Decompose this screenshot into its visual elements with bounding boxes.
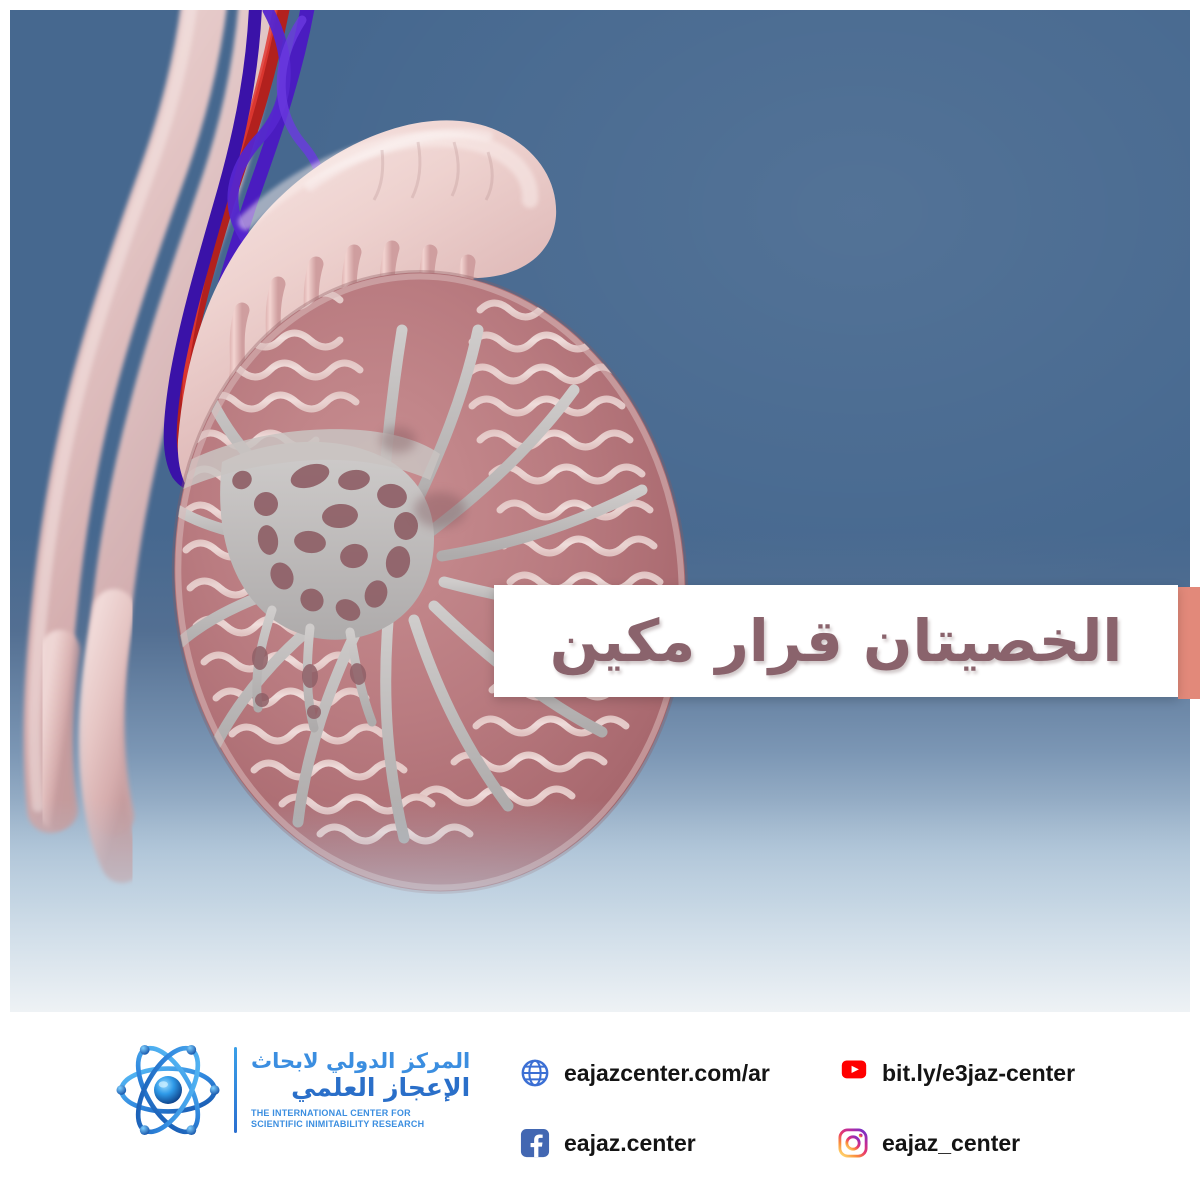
instagram-icon <box>838 1128 868 1158</box>
title-accent-bar <box>1178 587 1200 699</box>
brand-arabic-line-2: الإعجاز العلمي <box>251 1074 470 1102</box>
youtube-label: bit.ly/e3jaz-center <box>882 1060 1075 1087</box>
brand-logo[interactable]: المركز الدولي لابحاث الإعجاز العلمي THE … <box>112 1034 470 1146</box>
website-label: eajazcenter.com/ar <box>564 1060 770 1087</box>
brand-divider <box>234 1047 237 1133</box>
brand-english-line-1: THE INTERNATIONAL CENTER FOR <box>251 1108 470 1119</box>
title-banner: الخصيتان قرار مكين <box>494 585 1178 697</box>
youtube-link[interactable]: bit.ly/e3jaz-center <box>838 1058 1075 1088</box>
youtube-icon <box>838 1058 868 1088</box>
instagram-label: eajaz_center <box>882 1130 1020 1157</box>
brand-arabic-line-1: المركز الدولي لابحاث <box>251 1050 470 1074</box>
page-title: الخصيتان قرار مكين <box>550 612 1122 670</box>
facebook-icon <box>520 1128 550 1158</box>
brand-english-line-2: SCIENTIFIC INIMITABILITY RESEARCH <box>251 1119 470 1130</box>
poster-root: الخصيتان قرار مكين <box>0 0 1200 1200</box>
atom-icon <box>112 1034 224 1146</box>
illustration-panel <box>10 10 1190 1012</box>
instagram-link[interactable]: eajaz_center <box>838 1128 1075 1158</box>
contact-links: eajazcenter.com/ar bit.ly/e3jaz-center <box>520 1038 1075 1178</box>
testis-anatomy-illustration <box>10 10 1190 1012</box>
globe-icon <box>520 1058 550 1088</box>
facebook-link[interactable]: eajaz.center <box>520 1128 838 1158</box>
website-link[interactable]: eajazcenter.com/ar <box>520 1058 838 1088</box>
facebook-label: eajaz.center <box>564 1130 696 1157</box>
brand-wordmark: المركز الدولي لابحاث الإعجاز العلمي THE … <box>251 1050 470 1130</box>
footer: المركز الدولي لابحاث الإعجاز العلمي THE … <box>0 1012 1200 1200</box>
